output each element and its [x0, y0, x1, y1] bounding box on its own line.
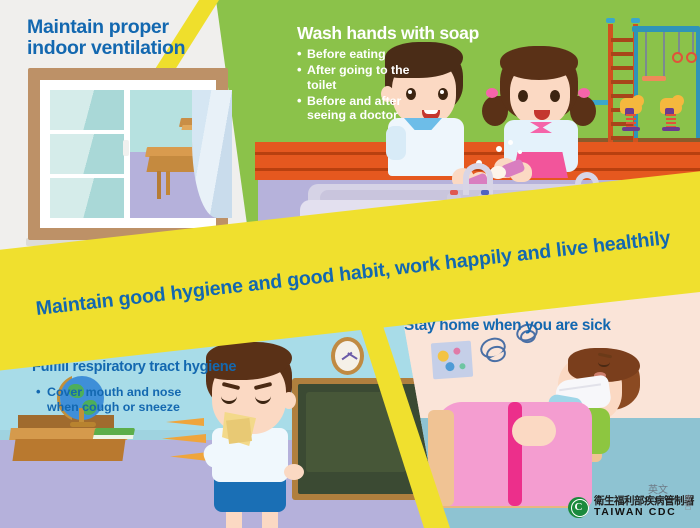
cdc-logo: 衛生福利部疾病管制署 TAIWAN CDC	[568, 496, 694, 518]
wall-clock	[331, 337, 364, 375]
coughing-boy-ear	[282, 392, 296, 409]
list-item: After going to the toilet	[297, 63, 422, 92]
classroom-desk-body	[12, 439, 125, 461]
desk-front-leg-1	[157, 171, 161, 199]
girl-hairbow-right	[578, 88, 590, 98]
ring-rope-right	[692, 32, 694, 54]
boy-eye-right	[438, 88, 448, 100]
org-name-en: TAIWAN CDC	[594, 507, 694, 518]
swing-top-bar	[632, 26, 700, 32]
sick-child-arm	[512, 416, 556, 446]
swing-rope-left	[645, 32, 647, 78]
desk-front-leg-2	[166, 171, 170, 195]
ring-rope-left	[678, 32, 680, 54]
bubble-3	[496, 146, 502, 152]
list-respiratory: Cover mouth and nose when cough or sneez…	[36, 385, 211, 415]
wall-poster	[431, 341, 473, 380]
swing-right-post	[696, 30, 700, 138]
heading-wash-hands: Wash hands with soap	[297, 24, 507, 43]
globe-base	[70, 422, 96, 427]
clock-face	[335, 341, 360, 371]
list-item: Before and after seeing a doctor	[297, 94, 422, 123]
boy-leg-left	[226, 510, 242, 528]
infographic-poster: Maintain proper indoor ventilation Wash …	[0, 0, 700, 528]
spring-rider-right	[658, 98, 684, 132]
bubble-4	[508, 140, 513, 145]
poster-planet-1	[453, 347, 460, 354]
mask-pleat	[559, 383, 601, 391]
cdc-circle-logo-icon	[568, 497, 589, 518]
poster-planet-3	[459, 363, 465, 369]
girl-bangs	[500, 46, 578, 80]
window-sliding-pane-left	[50, 90, 124, 218]
window-open-pane-right	[130, 90, 232, 218]
language-label: 英文	[648, 481, 668, 496]
book-pages	[93, 435, 134, 439]
spring-rider-left	[618, 98, 644, 132]
book-on-desk	[93, 428, 135, 439]
swing-seat	[642, 76, 666, 81]
list-wash-hands: Before eating After going to the toilet …	[297, 47, 422, 124]
gym-ring-right	[686, 52, 697, 63]
window-handle	[123, 140, 129, 156]
cdc-logo-text: 衛生福利部疾病管制署 TAIWAN CDC	[594, 496, 694, 518]
heading-ventilation-line1: Maintain proper	[27, 17, 237, 38]
window-illustration	[28, 68, 228, 240]
poster-planet-2	[445, 362, 455, 372]
poster-sun	[437, 350, 449, 362]
girl-hairbow-left	[486, 88, 498, 98]
girl-eye-right	[550, 90, 560, 102]
boy-leg-right	[262, 510, 278, 528]
gym-ring-left	[672, 52, 683, 63]
heading-ventilation: Maintain proper indoor ventilation	[27, 17, 237, 59]
list-item: Before eating	[297, 47, 422, 61]
advertisement-label: 廣告	[684, 495, 693, 511]
wall-stripe-upper	[255, 152, 700, 155]
list-item: Cover mouth and nose when cough or sneez…	[36, 385, 211, 415]
window-inner-frame	[40, 80, 216, 228]
swing-rope-right	[663, 32, 665, 78]
boy-hand-right-coughing	[284, 464, 304, 480]
bubble-5	[518, 150, 522, 154]
girl-eye-left	[518, 90, 528, 102]
tissue-fold	[226, 418, 252, 444]
boy-sleeve	[386, 126, 406, 160]
heading-ventilation-line2: indoor ventilation	[27, 38, 237, 59]
